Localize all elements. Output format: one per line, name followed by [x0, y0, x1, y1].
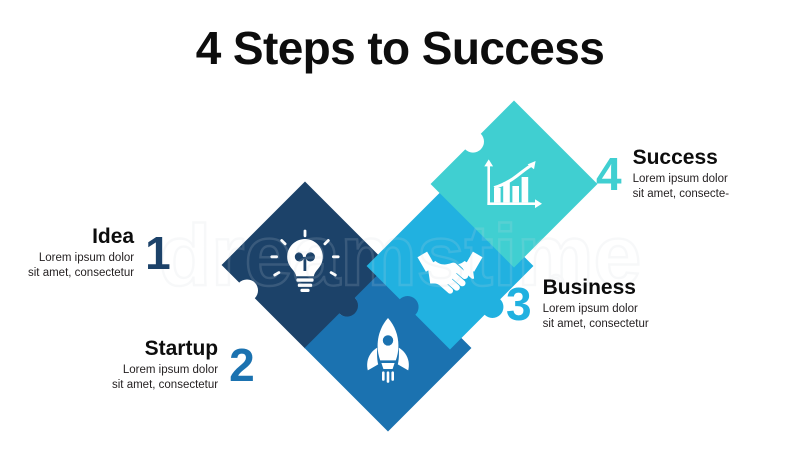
- step-desc-business: Lorem ipsum dolor sit amet, consectetur: [543, 302, 649, 333]
- step-desc-business-line1: Lorem ipsum dolor: [543, 302, 649, 317]
- step-desc-startup-line2: sit amet, consectetur: [112, 378, 218, 393]
- step-title-success: Success: [633, 146, 730, 170]
- step-desc-business-line2: sit amet, consectetur: [543, 317, 649, 332]
- step-label-success[interactable]: 4 Success Lorem ipsum dolor sit amet, co…: [596, 146, 729, 202]
- step-label-idea[interactable]: Idea Lorem ipsum dolor sit amet, consect…: [28, 225, 171, 281]
- step-number-success: 4: [596, 153, 622, 195]
- step-desc-idea-line2: sit amet, consectetur: [28, 266, 134, 281]
- step-desc-idea-line1: Lorem ipsum dolor: [28, 251, 134, 266]
- step-label-business-text: Business Lorem ipsum dolor sit amet, con…: [543, 276, 649, 332]
- step-desc-idea: Lorem ipsum dolor sit amet, consectetur: [28, 251, 134, 282]
- step-desc-startup-line1: Lorem ipsum dolor: [112, 363, 218, 378]
- step-number-startup: 2: [229, 344, 255, 386]
- step-title-startup: Startup: [112, 337, 218, 361]
- step-label-startup[interactable]: Startup Lorem ipsum dolor sit amet, cons…: [112, 337, 255, 393]
- step-desc-success: Lorem ipsum dolor sit amet, consecte-: [633, 172, 730, 203]
- step-desc-success-line2: sit amet, consecte-: [633, 187, 730, 202]
- step-desc-startup: Lorem ipsum dolor sit amet, consectetur: [112, 363, 218, 394]
- step-label-idea-text: Idea Lorem ipsum dolor sit amet, consect…: [28, 225, 134, 281]
- step-number-business: 3: [506, 283, 532, 325]
- step-title-idea: Idea: [28, 225, 134, 249]
- step-label-startup-text: Startup Lorem ipsum dolor sit amet, cons…: [112, 337, 218, 393]
- step-desc-success-line1: Lorem ipsum dolor: [633, 172, 730, 187]
- infographic-canvas: 4 Steps to Success: [0, 0, 800, 450]
- step-label-success-text: Success Lorem ipsum dolor sit amet, cons…: [633, 146, 730, 202]
- step-number-idea: 1: [145, 232, 171, 274]
- step-label-business[interactable]: 3 Business Lorem ipsum dolor sit amet, c…: [506, 276, 649, 332]
- step-title-business: Business: [543, 276, 649, 300]
